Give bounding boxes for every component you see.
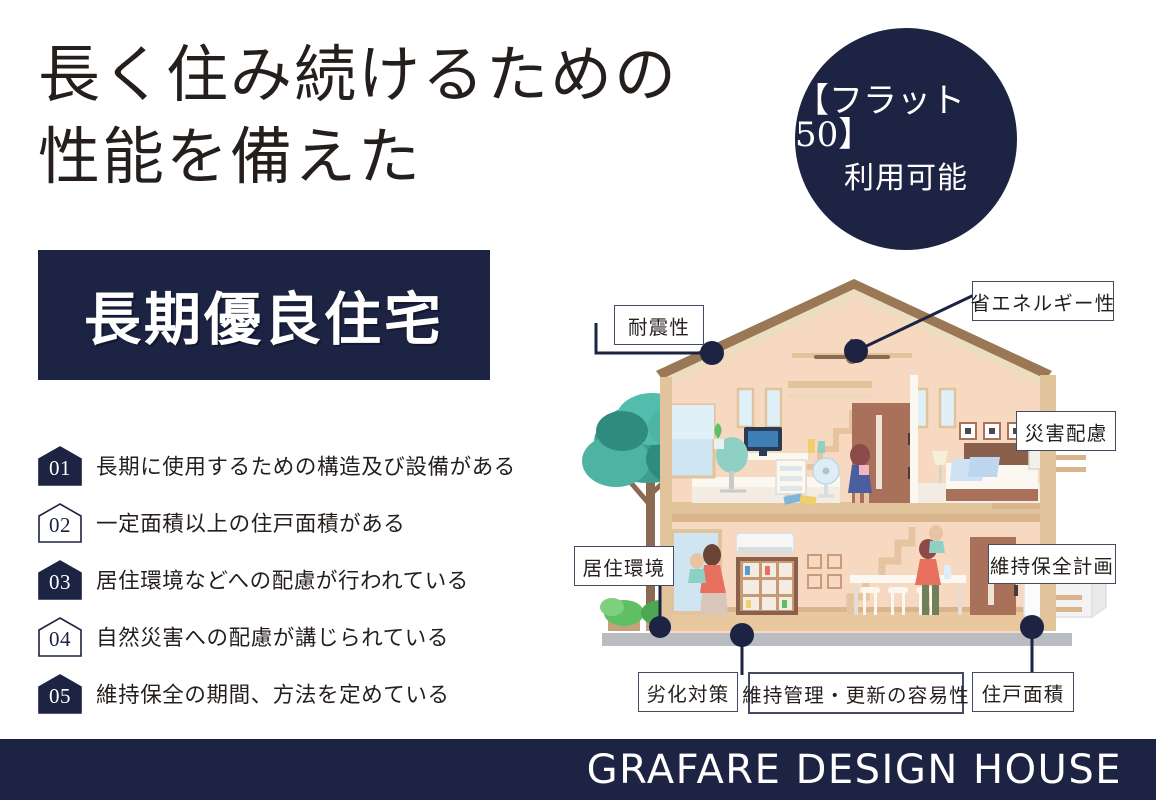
chouki-yuuryou-jutaku-banner: 長期優良住宅 — [38, 250, 490, 380]
callout-kyoju-label: 居住環境 — [583, 552, 666, 581]
upper-floor-slab — [668, 502, 1040, 514]
callout-ijihozen-label: 維持保全計画 — [990, 550, 1114, 579]
callout-juko-label: 住戸面積 — [982, 678, 1065, 707]
banner-label: 長期優良住宅 — [84, 274, 444, 356]
requirement-text: 居住環境などへの配慮が行われている — [96, 564, 469, 595]
callout-rekka-label: 劣化対策 — [647, 678, 730, 707]
list-item: 03 居住環境などへの配慮が行われている — [38, 551, 508, 608]
requirement-text: 維持保全の期間、方法を定めている — [96, 678, 450, 709]
callout-rekka[interactable]: 劣化対策 — [638, 672, 738, 712]
headline-line-2: 性能を備えた — [38, 116, 758, 198]
callout-kyoju[interactable]: 居住環境 — [574, 546, 674, 586]
brand-name: GRAFARE DESIGN HOUSE — [587, 747, 1122, 793]
footer-bar: GRAFARE DESIGN HOUSE — [0, 739, 1156, 800]
requirement-number: 01 — [38, 446, 82, 486]
callout-taishinsei[interactable]: 耐震性 — [614, 305, 704, 345]
callout-shoenergy[interactable]: 省エネルギー性 — [972, 281, 1114, 321]
flat50-badge-line-2: 利用可能 — [844, 164, 968, 194]
requirement-text: 自然災害への配慮が講じられている — [96, 621, 449, 652]
callout-ijihozen[interactable]: 維持保全計画 — [988, 544, 1116, 584]
list-item: 04 自然災害への配慮が講じられている — [38, 608, 508, 665]
callout-saigai[interactable]: 災害配慮 — [1016, 411, 1116, 451]
requirement-badge-04: 04 — [38, 617, 82, 657]
bookshelf — [736, 557, 798, 615]
poster-canvas: 長く住み続けるための 性能を備えた 【フラット50】 利用可能 長期優良住宅 0… — [0, 0, 1156, 800]
callout-ijikanri[interactable]: 維持管理・更新の容易性 — [748, 672, 964, 714]
requirement-badge-05: 05 — [38, 674, 82, 714]
list-item: 01 長期に使用するための構造及び設備がある — [38, 437, 508, 494]
requirement-badge-03: 03 — [38, 560, 82, 600]
list-item: 02 一定面積以上の住戸面積がある — [38, 494, 508, 551]
leader-dot-shoenergy — [844, 339, 868, 363]
attic-window — [940, 389, 955, 427]
callout-saigai-label: 災害配慮 — [1025, 417, 1108, 446]
callout-ijikanri-label: 維持管理・更新の容易性 — [742, 679, 970, 708]
leader-dot-rekka — [730, 623, 754, 647]
leader-dot-kyoju — [649, 616, 671, 638]
attic-window — [738, 389, 753, 427]
flat50-badge-line-1: 【フラット50】 — [795, 84, 1017, 152]
requirement-badge-02: 02 — [38, 503, 82, 543]
requirement-number: 02 — [38, 503, 82, 543]
requirement-number: 05 — [38, 674, 82, 714]
requirement-text: 長期に使用するための構造及び設備がある — [96, 450, 516, 481]
leader-dot-juko — [1020, 615, 1044, 639]
structural-post-left — [660, 377, 672, 631]
requirement-number: 04 — [38, 617, 82, 657]
air-conditioner-icon — [736, 533, 794, 553]
requirements-list: 01 長期に使用するための構造及び設備がある 02 一定面積以上の住戸面積がある… — [38, 437, 508, 722]
flat50-badge: 【フラット50】 利用可能 — [795, 28, 1017, 250]
requirement-text: 一定面積以上の住戸面積がある — [96, 507, 405, 538]
callout-taishinsei-label: 耐震性 — [628, 311, 690, 340]
list-item: 05 維持保全の期間、方法を定めている — [38, 665, 508, 722]
page-title: 長く住み続けるための 性能を備えた — [38, 34, 758, 198]
foundation-slab — [602, 633, 1072, 646]
attic-window — [766, 389, 781, 427]
callout-juko[interactable]: 住戸面積 — [972, 672, 1074, 712]
callout-shoenergy-label: 省エネルギー性 — [971, 287, 1116, 316]
headline-line-1: 長く住み続けるための — [38, 38, 678, 111]
requirement-number: 03 — [38, 560, 82, 600]
requirement-badge-01: 01 — [38, 446, 82, 486]
